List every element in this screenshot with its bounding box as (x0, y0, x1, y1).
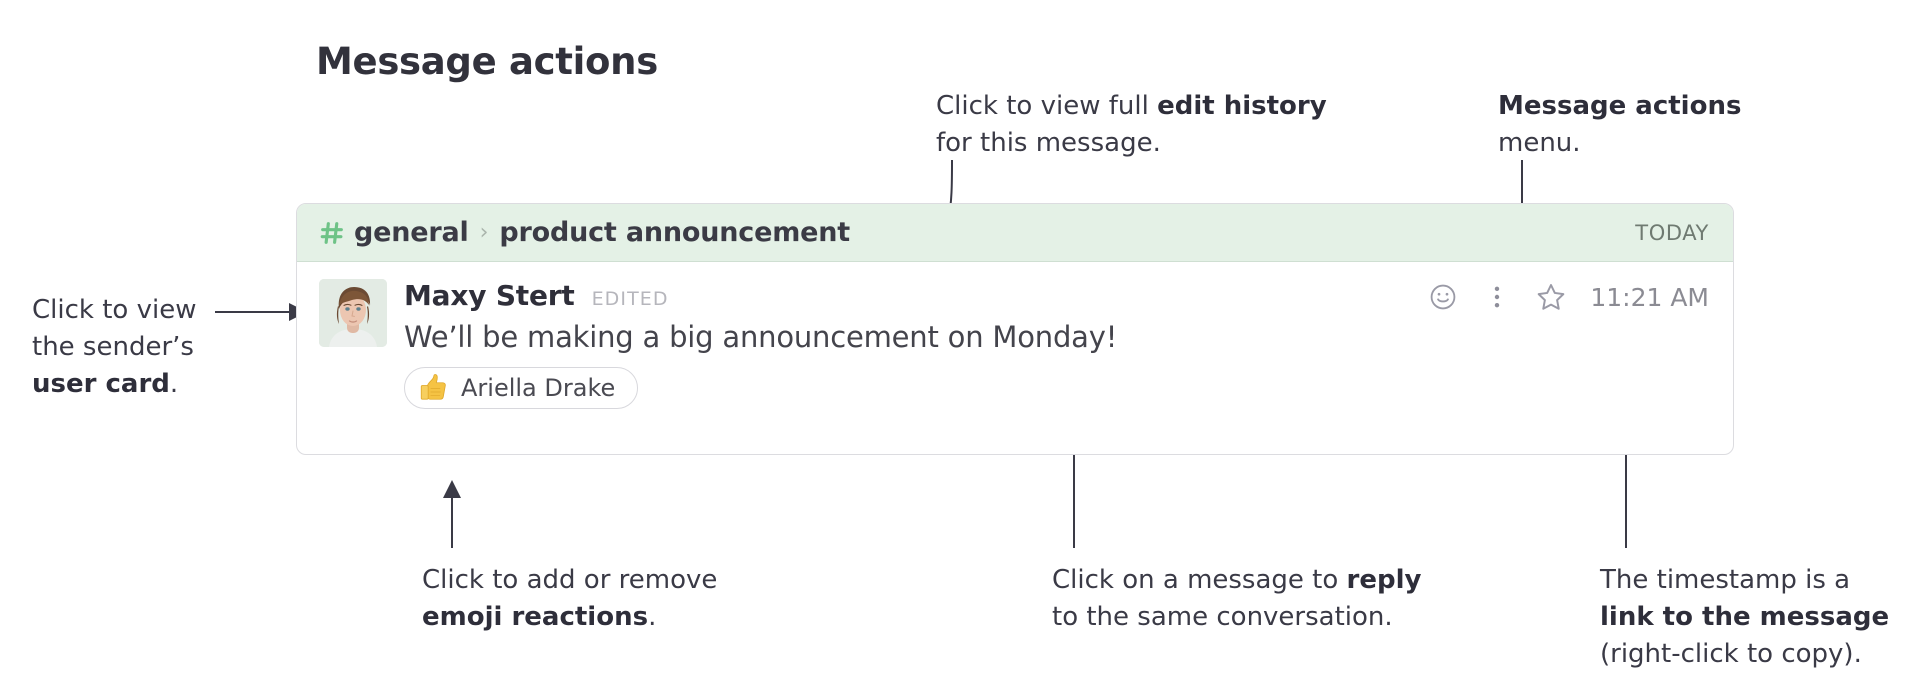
annotation-line: Click on a message to reply (1052, 562, 1421, 599)
annotation-text: for this message. (936, 128, 1161, 158)
annotation-text: to the same conversation. (1052, 602, 1393, 632)
illustration-stage: Message actions Click to viewthe sender’… (0, 0, 1924, 696)
annotation-emphasis: link to the message (1600, 602, 1889, 632)
annotation-text: . (170, 369, 178, 399)
annotation-line: the sender’s (32, 329, 196, 366)
annotation-line: to the same conversation. (1052, 599, 1421, 636)
annotation-text: . (648, 602, 656, 632)
annotation-text: Click to view full (936, 91, 1157, 121)
annotation-emphasis: Message actions (1498, 91, 1741, 121)
annotation-line: user card. (32, 366, 196, 403)
reaction-row: Ariella Drake (404, 367, 1709, 409)
annotation-emphasis: user card (32, 369, 170, 399)
annotation-text: Click on a message to (1052, 565, 1347, 595)
reaction-label: Ariella Drake (461, 374, 615, 402)
annotation-emphasis: emoji reactions (422, 602, 648, 632)
annotation-emoji-reactions: Click to add or removeemoji reactions. (422, 562, 717, 636)
stream-name[interactable]: general (354, 217, 469, 248)
annotation-line: menu. (1498, 125, 1741, 162)
sender-name[interactable]: Maxy Stert (404, 279, 575, 312)
annotation-reply: Click on a message to replyto the same c… (1052, 562, 1421, 636)
star-outline-icon[interactable] (1534, 280, 1568, 314)
emoji-smiley-icon[interactable] (1426, 280, 1460, 314)
vertical-ellipsis-icon[interactable] (1480, 280, 1514, 314)
date-label: TODAY (1635, 221, 1709, 245)
annotation-user-card: Click to viewthe sender’suser card. (32, 292, 196, 403)
annotation-line: The timestamp is a (1600, 562, 1889, 599)
annotation-text: Click to view (32, 295, 196, 325)
annotation-emphasis: reply (1347, 565, 1422, 595)
annotation-line: Message actions (1498, 88, 1741, 125)
message-controls: 11:21 AM (1426, 280, 1709, 314)
hash-icon (319, 220, 345, 246)
annotation-line: Click to add or remove (422, 562, 717, 599)
message-text[interactable]: We’ll be making a big announcement on Mo… (404, 320, 1709, 354)
annotation-line: (right-click to copy). (1600, 636, 1889, 673)
annotation-emphasis: edit history (1157, 91, 1327, 121)
message-card-header: general › product announcement TODAY (297, 204, 1733, 262)
annotation-text: the sender’s (32, 332, 194, 362)
edited-badge[interactable]: EDITED (592, 288, 669, 310)
annotation-text: The timestamp is a (1600, 565, 1850, 595)
page-title: Message actions (316, 40, 658, 83)
annotation-line: link to the message (1600, 599, 1889, 636)
avatar[interactable] (319, 279, 387, 347)
annotation-message-actions-menu: Message actionsmenu. (1498, 88, 1741, 162)
annotation-line: for this message. (936, 125, 1327, 162)
message-card: general › product announcement TODAY (296, 203, 1734, 455)
annotation-text: Click to add or remove (422, 565, 717, 595)
thumbs-up-emoji (419, 373, 449, 403)
annotation-edit-history: Click to view full edit historyfor this … (936, 88, 1327, 162)
annotation-text: menu. (1498, 128, 1581, 158)
message-card-body[interactable]: Maxy Stert EDITED We’ll be making a big … (297, 262, 1733, 409)
topic-name[interactable]: product announcement (499, 217, 850, 248)
annotation-line: emoji reactions. (422, 599, 717, 636)
annotation-timestamp-link: The timestamp is alink to the message(ri… (1600, 562, 1889, 673)
annotation-line: Click to view full edit history (936, 88, 1327, 125)
annotation-text: (right-click to copy). (1600, 639, 1862, 669)
message-timestamp[interactable]: 11:21 AM (1590, 283, 1709, 312)
reaction-pill[interactable]: Ariella Drake (404, 367, 638, 409)
annotation-line: Click to view (32, 292, 196, 329)
breadcrumb-separator: › (480, 220, 489, 245)
